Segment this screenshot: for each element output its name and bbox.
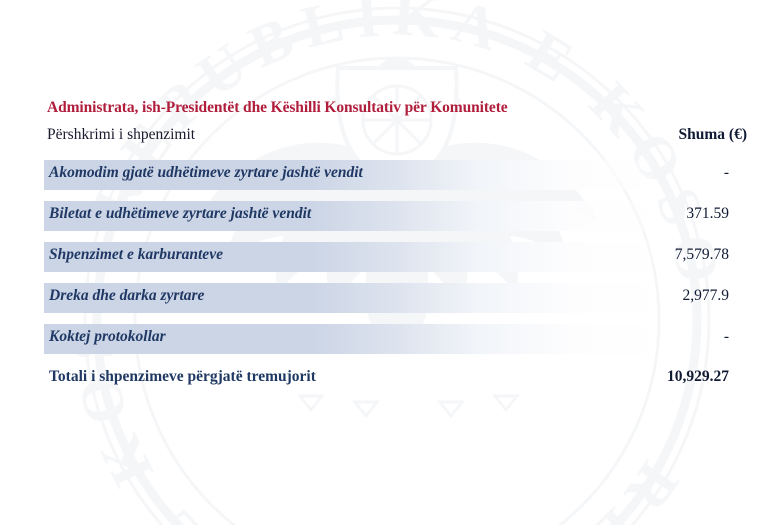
table-row: Shpenzimet e karburanteve 7,579.78	[44, 242, 747, 272]
expense-amount: 7,579.78	[675, 246, 729, 264]
expense-description: Dreka dhe darka zyrtare	[49, 287, 204, 305]
table-row: Koktej protokollar -	[44, 324, 747, 354]
table-row: Akomodim gjatë udhëtimeve zyrtare jashtë…	[44, 160, 747, 190]
expense-report-document: Administrata, ish-Presidentët dhe Këshil…	[0, 0, 774, 525]
expense-amount: -	[724, 328, 729, 346]
expense-amount: 2,977.9	[683, 287, 730, 305]
expense-description: Akomodim gjatë udhëtimeve zyrtare jashtë…	[49, 164, 363, 182]
table-total-row: Totali i shpenzimeve përgjatë tremujorit…	[44, 368, 747, 394]
page-title: Administrata, ish-Presidentët dhe Këshil…	[47, 99, 508, 117]
expense-description: Shpenzimet e karburanteve	[49, 246, 223, 264]
total-amount: 10,929.27	[667, 368, 729, 386]
expense-description: Biletat e udhëtimeve zyrtare jashtë vend…	[49, 205, 311, 223]
table-row: Dreka dhe darka zyrtare 2,977.9	[44, 283, 747, 313]
expense-amount: 371.59	[686, 205, 729, 223]
expense-description: Koktej protokollar	[49, 328, 166, 346]
column-header-amount: Shuma (€)	[679, 126, 747, 144]
expense-amount: -	[724, 164, 729, 182]
total-label: Totali i shpenzimeve përgjatë tremujorit	[49, 368, 316, 386]
table-header-row: Përshkrimi i shpenzimit Shuma (€)	[47, 126, 747, 148]
column-header-description: Përshkrimi i shpenzimit	[47, 126, 195, 144]
table-row: Biletat e udhëtimeve zyrtare jashtë vend…	[44, 201, 747, 231]
